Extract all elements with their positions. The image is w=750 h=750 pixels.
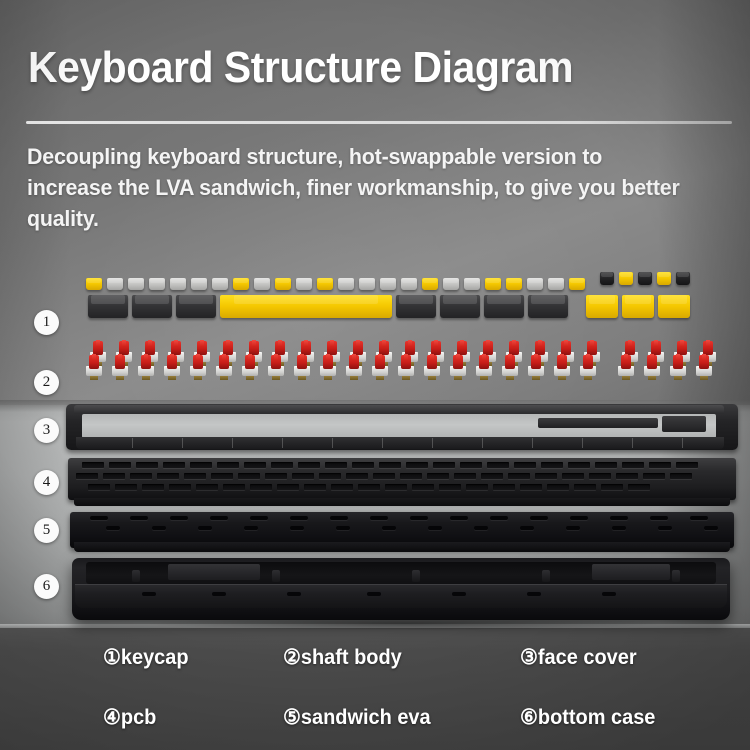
pcb-switch-socket — [184, 473, 206, 479]
mechanical-switch — [268, 354, 284, 376]
keycap — [485, 278, 501, 290]
eva-vent-hole — [566, 526, 580, 530]
eva-vent-hole — [290, 516, 308, 520]
bottom-case-plate — [592, 564, 670, 580]
mechanical-switch — [528, 354, 544, 376]
mechanical-switch — [138, 354, 154, 376]
eva-vent-hole — [336, 526, 350, 530]
switch-cross-mount — [482, 354, 486, 361]
switch-cross-mount — [382, 340, 386, 347]
pcb-switch-socket — [676, 462, 698, 468]
pcb-switch-socket — [535, 473, 557, 479]
header-divider — [26, 121, 732, 124]
switch-cross-mount — [200, 340, 204, 347]
switch-cross-mount — [252, 340, 256, 347]
eva-vent-hole — [650, 516, 668, 520]
legend-item-sandwich-eva: ⑤sandwich eva — [283, 706, 431, 730]
bottom-case-rim — [75, 584, 727, 608]
pcb-switch-socket — [88, 484, 110, 490]
switch-cross-mount — [486, 340, 490, 347]
switch-cross-mount — [92, 354, 96, 361]
pcb-switch-socket — [346, 473, 368, 479]
pcb-switch-socket — [169, 484, 191, 490]
keycap — [464, 278, 480, 290]
callout-badge-1: 1 — [34, 310, 59, 335]
pcb-switch-socket — [115, 484, 137, 490]
callout-badge-2: 2 — [34, 370, 59, 395]
keycap — [586, 295, 618, 318]
pcb-switch-socket — [82, 462, 104, 468]
pcb-switch-socket — [493, 484, 515, 490]
switch-cross-mount — [356, 340, 360, 347]
switch-cross-mount — [538, 340, 542, 347]
switch-cross-mount — [404, 354, 408, 361]
legend-item-shaft-body: ②shaft body — [283, 646, 402, 670]
pcb-switch-socket — [547, 484, 569, 490]
switch-cross-mount — [560, 354, 564, 361]
switch-cross-mount — [706, 340, 710, 347]
face-cover-segment-divider — [632, 438, 633, 448]
pcb-switch-socket — [223, 484, 245, 490]
switch-cross-mount — [170, 354, 174, 361]
keycap — [527, 278, 543, 290]
switch-cross-mount — [300, 354, 304, 361]
keycap — [422, 278, 438, 290]
pcb-switch-socket — [412, 484, 434, 490]
face-cover-segment-divider — [332, 438, 333, 448]
switch-cross-mount — [456, 354, 460, 361]
eva-vent-hole — [612, 526, 626, 530]
face-cover-bottom-bar — [76, 437, 724, 449]
legend-item-face-cover: ③face cover — [520, 646, 637, 670]
switch-cross-mount — [352, 354, 356, 361]
switch-cross-mount — [702, 354, 706, 361]
pcb-switch-socket — [385, 484, 407, 490]
switch-cross-mount — [650, 354, 654, 361]
eva-vent-hole — [410, 516, 428, 520]
face-cover-segment-divider — [282, 438, 283, 448]
pcb-switch-socket — [250, 484, 272, 490]
eva-vent-hole — [290, 526, 304, 530]
keycap — [170, 278, 186, 290]
keycap — [107, 278, 123, 290]
bottom-case-screw-boss — [527, 592, 541, 596]
bottom-case-screw-boss — [287, 592, 301, 596]
keycap — [380, 278, 396, 290]
pcb-switch-socket — [136, 462, 158, 468]
pcb-switch-socket — [508, 473, 530, 479]
keycap — [86, 278, 102, 290]
keycap — [191, 278, 207, 290]
eva-vent-hole — [330, 516, 348, 520]
keycap — [396, 295, 436, 318]
face-cover-segment-divider — [132, 438, 133, 448]
switch-cross-mount — [564, 340, 568, 347]
bottom-case-screw-boss — [602, 592, 616, 596]
keycap — [440, 295, 480, 318]
switch-cross-mount — [512, 340, 516, 347]
mechanical-switch — [424, 354, 440, 376]
eva-vent-hole — [90, 516, 108, 520]
keycap — [338, 278, 354, 290]
layer-sandwich-eva — [70, 512, 734, 554]
bottom-case-screw-boss — [367, 592, 381, 596]
face-cover-nub — [538, 418, 658, 428]
pcb-switch-socket — [439, 484, 461, 490]
switch-cross-mount — [222, 354, 226, 361]
keycap — [622, 295, 654, 318]
pcb-switch-socket — [238, 473, 260, 479]
keycap — [275, 278, 291, 290]
pcb-switch-socket — [601, 484, 623, 490]
eva-vent-hole — [658, 526, 672, 530]
mechanical-switch — [554, 354, 570, 376]
eva-vent-hole — [450, 516, 468, 520]
eva-vent-hole — [690, 516, 708, 520]
pcb-switch-socket — [514, 462, 536, 468]
keycap — [658, 295, 690, 318]
pcb-switch-socket — [406, 462, 428, 468]
pcb-switch-socket — [616, 473, 638, 479]
keycap — [443, 278, 459, 290]
switch-cross-mount — [460, 340, 464, 347]
pcb-switch-socket — [217, 462, 239, 468]
legend: ①keycap②shaft body③face cover④pcb⑤sandwi… — [0, 636, 750, 750]
keycap — [569, 278, 585, 290]
keycap — [296, 278, 312, 290]
switch-cross-mount — [118, 354, 122, 361]
legend-item-keycap: ①keycap — [103, 646, 189, 670]
diagram-canvas: Keyboard Structure Diagram Decoupling ke… — [0, 0, 750, 750]
pcb-switch-socket — [358, 484, 380, 490]
face-cover-segment-divider — [432, 438, 433, 448]
switch-cross-mount — [624, 354, 628, 361]
keycap — [600, 272, 614, 285]
pcb-switch-socket — [622, 462, 644, 468]
switch-cross-mount — [378, 354, 382, 361]
page-title: Keyboard Structure Diagram — [28, 42, 573, 94]
pcb-switch-socket — [454, 473, 476, 479]
pcb-switch-socket — [331, 484, 353, 490]
pcb-switch-socket — [196, 484, 218, 490]
pcb-switch-socket — [319, 473, 341, 479]
pcb-switch-socket — [520, 484, 542, 490]
face-cover-segment-divider — [382, 438, 383, 448]
pcb-switch-socket — [142, 484, 164, 490]
pcb-switch-socket — [541, 462, 563, 468]
mechanical-switch — [450, 354, 466, 376]
switch-cross-mount — [122, 340, 126, 347]
mechanical-switch — [320, 354, 336, 376]
keycap — [233, 278, 249, 290]
switch-cross-mount — [430, 354, 434, 361]
pcb-switch-socket — [298, 462, 320, 468]
mechanical-switch — [216, 354, 232, 376]
pcb-switch-socket — [292, 473, 314, 479]
pcb-switch-socket — [643, 473, 665, 479]
switch-cross-mount — [174, 340, 178, 347]
eva-vent-hole — [490, 516, 508, 520]
pcb-switch-socket — [427, 473, 449, 479]
pcb-switch-socket — [271, 462, 293, 468]
pcb-switch-socket — [265, 473, 287, 479]
eva-vent-hole — [520, 526, 534, 530]
pcb-switch-socket — [244, 462, 266, 468]
bottom-case-standoff — [132, 570, 140, 582]
layer-bottom-case — [72, 558, 730, 630]
eva-vent-hole — [570, 516, 588, 520]
mechanical-switch — [398, 354, 414, 376]
mechanical-switch — [346, 354, 362, 376]
eva-vent-hole — [210, 516, 228, 520]
pcb-switch-socket — [157, 473, 179, 479]
switch-cross-mount — [196, 354, 200, 361]
switch-cross-mount — [508, 354, 512, 361]
pcb-switch-socket — [277, 484, 299, 490]
keycap — [88, 295, 128, 318]
bottom-case-screw-boss — [142, 592, 156, 596]
mechanical-switch — [618, 354, 634, 376]
switch-cross-mount — [96, 340, 100, 347]
mechanical-switch — [372, 354, 388, 376]
pcb-switch-socket — [400, 473, 422, 479]
page-subtitle: Decoupling keyboard structure, hot-swapp… — [27, 141, 683, 234]
pcb-switch-socket — [481, 473, 503, 479]
pcb-switch-socket — [487, 462, 509, 468]
callout-badge-5: 5 — [34, 518, 59, 543]
pcb-switch-socket — [163, 462, 185, 468]
layer-face-cover — [66, 404, 738, 456]
pcb-switch-socket — [649, 462, 671, 468]
switch-cross-mount — [226, 340, 230, 347]
switch-cross-mount — [274, 354, 278, 361]
keycap — [484, 295, 524, 318]
keycap — [149, 278, 165, 290]
eva-vent-hole — [610, 516, 628, 520]
pcb-switch-socket — [325, 462, 347, 468]
keycap — [548, 278, 564, 290]
switch-cross-mount — [304, 340, 308, 347]
keycap — [657, 272, 671, 285]
bottom-case-plate — [168, 564, 260, 580]
bottom-case-standoff — [672, 570, 680, 582]
callout-badge-6: 6 — [34, 574, 59, 599]
legend-item-pcb: ④pcb — [103, 706, 156, 730]
pcb-switch-socket — [433, 462, 455, 468]
keycap — [401, 278, 417, 290]
pcb-switch-socket — [103, 473, 125, 479]
eva-vent-hole — [428, 526, 442, 530]
keycap — [676, 272, 690, 285]
switch-cross-mount — [534, 354, 538, 361]
keycap — [128, 278, 144, 290]
pcb-switch-socket — [628, 484, 650, 490]
pcb-switch-socket — [190, 462, 212, 468]
bottom-case-standoff — [272, 570, 280, 582]
mechanical-switch — [86, 354, 102, 376]
layer-switches — [86, 338, 734, 388]
pcb-switch-socket — [379, 462, 401, 468]
pcb-switch-socket — [211, 473, 233, 479]
face-cover-segment-divider — [482, 438, 483, 448]
pcb-switch-socket — [460, 462, 482, 468]
pcb-switch-socket — [589, 473, 611, 479]
switch-cross-mount — [654, 340, 658, 347]
legend-item-bottom-case: ⑥bottom case — [520, 706, 655, 730]
switch-cross-mount — [676, 354, 680, 361]
switch-cross-mount — [326, 354, 330, 361]
pcb-switch-socket — [109, 462, 131, 468]
keycap — [254, 278, 270, 290]
switch-cross-mount — [330, 340, 334, 347]
face-cover-segment-divider — [682, 438, 683, 448]
callout-badge-3: 3 — [34, 418, 59, 443]
layer-keycaps — [86, 268, 734, 328]
mechanical-switch — [190, 354, 206, 376]
mechanical-switch — [112, 354, 128, 376]
switch-cross-mount — [680, 340, 684, 347]
eva-vent-hole — [130, 516, 148, 520]
pcb-switch-socket — [304, 484, 326, 490]
pcb-switch-socket — [76, 473, 98, 479]
switch-cross-mount — [144, 354, 148, 361]
keycap — [528, 295, 568, 318]
mechanical-switch — [580, 354, 596, 376]
mechanical-switch — [476, 354, 492, 376]
pcb-switch-socket — [373, 473, 395, 479]
bottom-case-screw-boss — [212, 592, 226, 596]
switch-cross-mount — [248, 354, 252, 361]
bottom-case-standoff — [412, 570, 420, 582]
keycap — [317, 278, 333, 290]
pcb-switch-socket — [352, 462, 374, 468]
face-cover-segment-divider — [532, 438, 533, 448]
face-cover-segment-divider — [582, 438, 583, 448]
mechanical-switch — [644, 354, 660, 376]
face-cover-top-bar — [74, 405, 724, 414]
pcb-switch-socket — [562, 473, 584, 479]
pcb-switch-socket — [595, 462, 617, 468]
switch-cross-mount — [148, 340, 152, 347]
pcb-switch-socket — [568, 462, 590, 468]
keycap — [176, 295, 216, 318]
face-cover-segment-divider — [232, 438, 233, 448]
keycap — [132, 295, 172, 318]
eva-vent-hole — [370, 516, 388, 520]
mechanical-switch — [294, 354, 310, 376]
switch-cross-mount — [278, 340, 282, 347]
switch-cross-mount — [628, 340, 632, 347]
eva-lip — [74, 542, 730, 552]
bottom-case-standoff — [542, 570, 550, 582]
eva-vent-hole — [244, 526, 258, 530]
callout-badge-4: 4 — [34, 470, 59, 495]
switch-cross-mount — [586, 354, 590, 361]
eva-vent-hole — [530, 516, 548, 520]
switch-cross-mount — [590, 340, 594, 347]
keycap — [359, 278, 375, 290]
keycap — [619, 272, 633, 285]
switch-cross-mount — [434, 340, 438, 347]
eva-vent-hole — [198, 526, 212, 530]
eva-vent-hole — [170, 516, 188, 520]
eva-vent-hole — [250, 516, 268, 520]
mechanical-switch — [502, 354, 518, 376]
keycap — [220, 295, 392, 318]
pcb-switch-socket — [670, 473, 692, 479]
eva-vent-hole — [474, 526, 488, 530]
layer-pcb — [68, 458, 736, 506]
pcb-switch-socket — [574, 484, 596, 490]
mechanical-switch — [242, 354, 258, 376]
face-cover-nub — [662, 416, 706, 432]
eva-vent-hole — [382, 526, 396, 530]
mechanical-switch — [164, 354, 180, 376]
pcb-switch-socket — [130, 473, 152, 479]
keycap — [638, 272, 652, 285]
pcb-switch-socket — [466, 484, 488, 490]
switch-cross-mount — [408, 340, 412, 347]
pcb-skirt — [74, 498, 730, 506]
mechanical-switch — [670, 354, 686, 376]
eva-vent-hole — [106, 526, 120, 530]
face-cover-segment-divider — [182, 438, 183, 448]
mechanical-switch — [696, 354, 712, 376]
eva-vent-hole — [704, 526, 718, 530]
eva-vent-hole — [152, 526, 166, 530]
keycap — [212, 278, 228, 290]
bottom-case-screw-boss — [452, 592, 466, 596]
keycap — [506, 278, 522, 290]
